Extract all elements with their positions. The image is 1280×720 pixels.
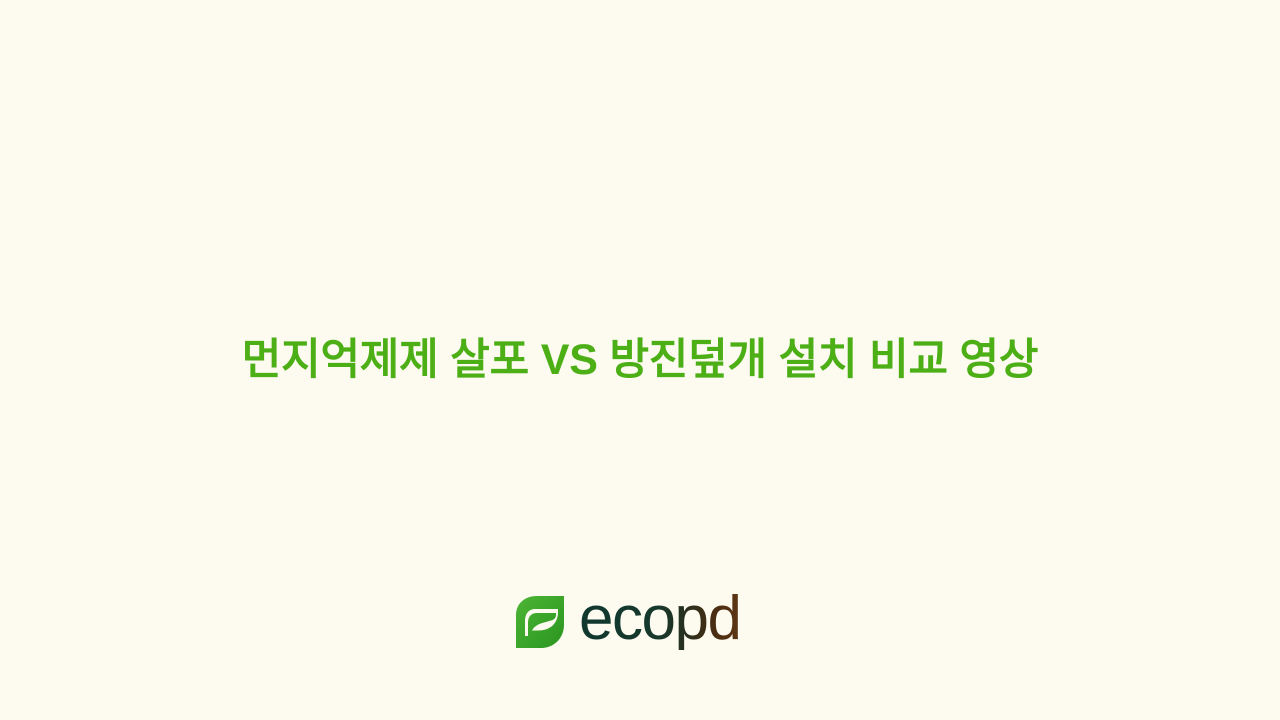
leaf-e-icon	[515, 595, 565, 649]
page-title: 먼지억제제 살포 VS 방진덮개 설치 비교 영상	[242, 336, 1039, 385]
slide-canvas: 먼지억제제 살포 VS 방진덮개 설치 비교 영상	[0, 0, 1280, 720]
brand-wordmark: ecopd	[579, 594, 765, 650]
brand-logo-lockup: ecopd	[515, 592, 765, 652]
brand-wordmark-text: ecopd	[579, 594, 740, 650]
